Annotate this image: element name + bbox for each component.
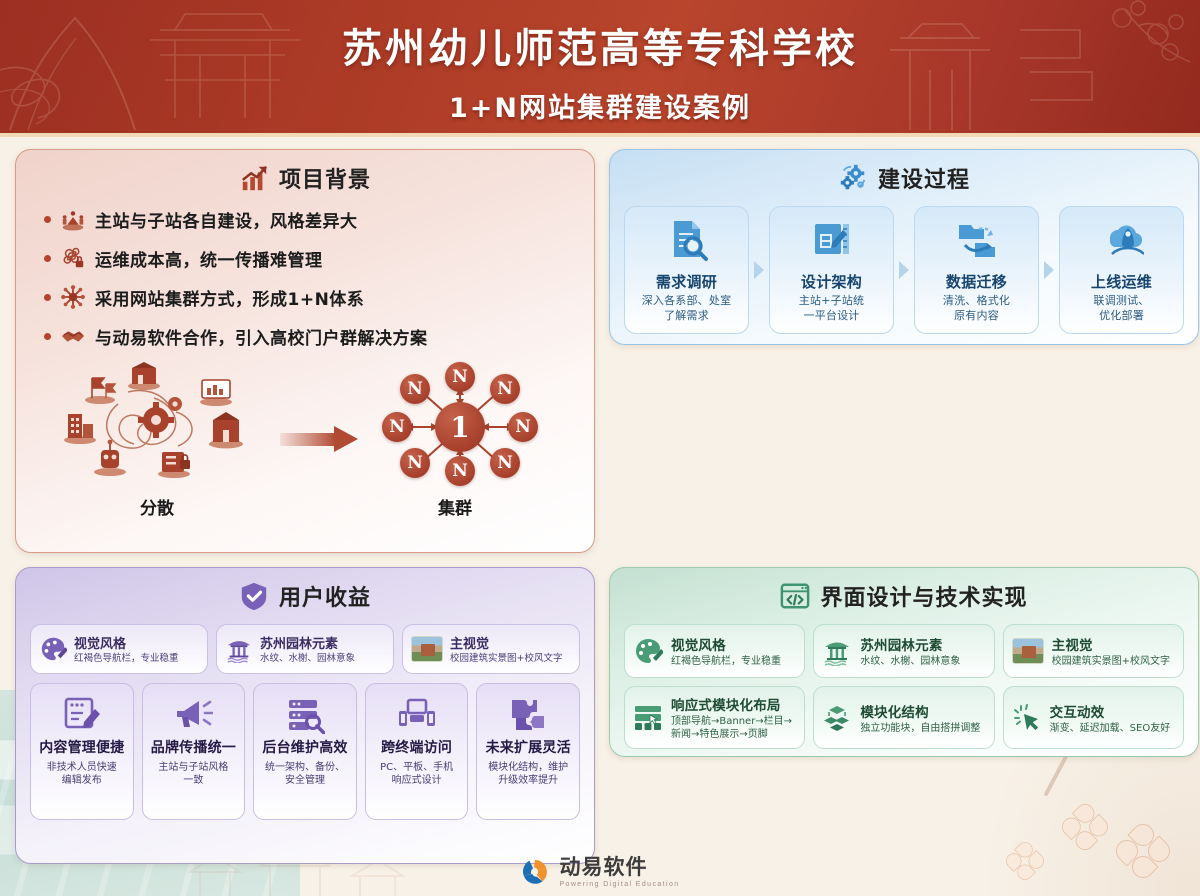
- design-card-desc: 水纹、水榭、园林意象: [860, 655, 960, 668]
- cluster-satellite-node: N: [400, 448, 430, 478]
- panel-title-text: 界面设计与技术实现: [820, 580, 1027, 612]
- diagram-label-scattered: 分散: [140, 494, 174, 519]
- process-step[interactable]: 数据迁移 清洗、格式化 原有内容: [914, 206, 1039, 334]
- benefit-card-name: 视觉风格: [74, 633, 179, 652]
- campus-photo-thumbnail: [411, 636, 443, 662]
- benefit-vcard-name: 跨终端访问: [381, 740, 452, 757]
- tangled-network-lock-icon: [60, 245, 86, 271]
- benefit-card-name: 苏州园林元素: [260, 633, 355, 652]
- process-step-desc: 主站+子站统 一平台设计: [775, 294, 888, 324]
- page-title: 苏州幼儿师范高等专科学校: [0, 16, 1200, 74]
- scattered-vs-cluster-diagram: 分散: [30, 362, 580, 530]
- benefit-vcard[interactable]: 品牌传播统一 主站与子站风格 一致: [142, 683, 246, 820]
- design-card-name: 响应式模块化布局: [671, 694, 796, 714]
- benefit-vcard-desc: 统一架构、备份、 安全管理: [265, 761, 345, 788]
- campus-photo-thumbnail: [1012, 638, 1044, 664]
- bullet-dot-icon: [44, 216, 51, 223]
- panel-title-project-background: 项目背景: [30, 162, 580, 194]
- growth-chart-icon: [239, 163, 269, 193]
- design-card-name: 交互动效: [1050, 701, 1171, 721]
- design-card-name: 苏州园林元素: [860, 634, 960, 654]
- cloud-rocket-icon: [1100, 217, 1144, 261]
- cluster-satellite-node: N: [490, 448, 520, 478]
- list-item-label: 采用网站集群方式，形成1+N体系: [95, 285, 364, 310]
- shield-check-icon: [239, 581, 269, 611]
- benefit-vcard-desc: PC、平板、手机 响应式设计: [380, 761, 453, 788]
- design-card-desc: 顶部导航→Banner→栏目→新闻→特色展示→页脚: [671, 715, 796, 741]
- page-footer: 动易软件 Powering Digital Education: [0, 848, 1200, 896]
- blueprint-pencil-icon: [810, 217, 854, 261]
- panel-title-interface-design: 界面设计与技术实现: [624, 580, 1184, 612]
- benefits-card-grid: 内容管理便捷 非技术人员快速 编辑发布 品牌传播统一 主站与子站风格 一致: [30, 683, 580, 820]
- megaphone-icon: [173, 694, 213, 734]
- multi-device-icon: [397, 694, 437, 734]
- panel-title-user-benefits: 用户收益: [30, 580, 580, 612]
- puzzle-icon: [508, 694, 548, 734]
- bullet-dot-icon: [44, 255, 51, 262]
- list-item-label: 运维成本高，统一传播难管理: [95, 246, 323, 271]
- page-subtitle: 1+N网站集群建设案例: [0, 86, 1200, 125]
- benefit-vcard[interactable]: 跨终端访问 PC、平板、手机 响应式设计: [365, 683, 469, 820]
- stacked-modules-icon: [822, 703, 852, 733]
- brand-logo-icon: [520, 857, 550, 887]
- handshake-icon: [60, 323, 86, 349]
- list-item: 与动易软件合作，引入高校门户群解决方案: [44, 323, 580, 349]
- palette-icon: [633, 636, 663, 666]
- design-card[interactable]: 视觉风格 红褐色导航栏，专业稳重: [624, 624, 805, 678]
- cluster-center-node: 1: [435, 402, 485, 452]
- satellite-item-campus: [209, 412, 243, 448]
- pavilion-icon: [225, 635, 253, 663]
- design-card-grid: 视觉风格 红褐色导航栏，专业稳重 苏州园林元素 水纹、水榭、园林意象: [624, 624, 1184, 749]
- benefit-vcard-name: 内容管理便捷: [39, 740, 124, 757]
- benefit-card-desc: 红褐色导航栏，专业稳重: [74, 653, 179, 665]
- benefit-card[interactable]: 主视觉 校园建筑实景图+校风文字: [402, 624, 580, 674]
- transition-arrow-icon: [280, 426, 360, 452]
- scattered-sites-icon: [60, 206, 86, 232]
- code-window-icon: [780, 581, 810, 611]
- design-card-desc: 校园建筑实景图+校风文字: [1052, 655, 1170, 668]
- benefit-vcard[interactable]: 内容管理便捷 非技术人员快速 编辑发布: [30, 683, 134, 820]
- process-step-desc: 清洗、格式化 原有内容: [920, 294, 1033, 324]
- edit-document-icon: [62, 694, 102, 734]
- benefit-card-name: 主视觉: [450, 633, 562, 652]
- panel-title-text: 用户收益: [279, 580, 371, 612]
- brand-name: 动易软件: [559, 857, 647, 878]
- click-cursor-icon: [1012, 703, 1042, 733]
- cluster-satellite-node: N: [400, 374, 430, 404]
- design-card-desc: 渐变、延迟加载、SEO友好: [1050, 722, 1171, 735]
- design-card-desc: 红褐色导航栏，专业稳重: [671, 655, 781, 668]
- cluster-satellite-node: N: [490, 374, 520, 404]
- process-step-desc: 深入各系部、处室 了解需求: [630, 294, 743, 324]
- process-step-desc: 联调测试、 优化部署: [1065, 294, 1178, 324]
- benefit-vcard[interactable]: 后台维护高效 统一架构、备份、 安全管理: [253, 683, 357, 820]
- panel-title-construction-process: 建设过程: [624, 162, 1184, 194]
- chevron-right-icon: [894, 206, 914, 334]
- process-step[interactable]: 上线运维 联调测试、 优化部署: [1059, 206, 1184, 334]
- gears-icon: [838, 163, 868, 193]
- panel-title-text: 项目背景: [279, 162, 371, 194]
- benefit-vcard-name: 未来扩展灵活: [486, 740, 571, 757]
- process-step[interactable]: 设计架构 主站+子站统 一平台设计: [769, 206, 894, 334]
- process-step-list: 需求调研 深入各系部、处室 了解需求 设计架构 主站+子站统: [624, 206, 1184, 334]
- satellite-item-buildings: [64, 414, 96, 444]
- panel-interface-design: 界面设计与技术实现 视觉风格 红褐色导航栏，专业稳重: [609, 567, 1199, 757]
- design-card[interactable]: 主视觉 校园建筑实景图+校风文字: [1003, 624, 1184, 678]
- panel-user-benefits: 用户收益 视觉风格 红褐色导航栏，专业稳重: [15, 567, 595, 864]
- scattered-sites-illustration: [58, 362, 268, 492]
- chevron-right-icon: [749, 206, 769, 334]
- benefit-card-desc: 校园建筑实景图+校风文字: [450, 653, 562, 665]
- list-item: 主站与子站各自建设，风格差异大: [44, 206, 580, 232]
- document-search-icon: [665, 217, 709, 261]
- process-step[interactable]: 需求调研 深入各系部、处室 了解需求: [624, 206, 749, 334]
- satellite-item-school: [128, 362, 160, 390]
- satellite-item-server-lock: [158, 452, 190, 478]
- benefit-card-desc: 水纹、水榭、园林意象: [260, 653, 355, 665]
- benefit-vcard-name: 品牌传播统一: [151, 740, 236, 757]
- list-item-label: 主站与子站各自建设，风格差异大: [95, 207, 358, 232]
- folder-transfer-icon: [955, 217, 999, 261]
- hub-network-icon: [60, 284, 86, 310]
- bullet-dot-icon: [44, 333, 51, 340]
- benefit-vcard-desc: 模块化结构，维护 升级效率提升: [488, 761, 568, 788]
- process-step-name: 设计架构: [775, 271, 888, 292]
- palette-icon: [39, 635, 67, 663]
- process-step-name: 数据迁移: [920, 271, 1033, 292]
- benefits-top-card-row: 视觉风格 红褐色导航栏，专业稳重 苏州园林元素 水纹、水榭、园林意象: [30, 624, 580, 674]
- design-card-name: 视觉风格: [671, 634, 781, 654]
- benefit-card[interactable]: 视觉风格 红褐色导航栏，专业稳重: [30, 624, 208, 674]
- bullet-dot-icon: [44, 294, 51, 301]
- design-card-name: 主视觉: [1052, 634, 1170, 654]
- diagram-label-cluster: 集群: [438, 494, 472, 519]
- background-bullet-list: 主站与子站各自建设，风格差异大 运维成本高，统一传播难管理: [44, 206, 580, 349]
- design-card-desc: 独立功能块，自由搭拼调整: [860, 722, 980, 735]
- design-card[interactable]: 交互动效 渐变、延迟加载、SEO友好: [1003, 686, 1184, 749]
- design-card[interactable]: 苏州园林元素 水纹、水榭、园林意象: [813, 624, 994, 678]
- cluster-satellite-node: N: [382, 412, 412, 442]
- benefit-vcard[interactable]: 未来扩展灵活 模块化结构，维护 升级效率提升: [476, 683, 580, 820]
- list-item: 采用网站集群方式，形成1+N体系: [44, 284, 580, 310]
- benefit-vcard-desc: 非技术人员快速 编辑发布: [47, 761, 117, 788]
- design-card-name: 模块化结构: [860, 701, 980, 721]
- list-item: 运维成本高，统一传播难管理: [44, 245, 580, 271]
- design-card[interactable]: 响应式模块化布局 顶部导航→Banner→栏目→新闻→特色展示→页脚: [624, 686, 805, 749]
- cluster-satellite-node: N: [445, 362, 475, 392]
- process-step-name: 需求调研: [630, 271, 743, 292]
- panel-project-background: 项目背景 主站与子站各自建设，风格差异大: [15, 149, 595, 553]
- server-wrench-icon: [285, 694, 325, 734]
- chevron-right-icon: [1039, 206, 1059, 334]
- benefit-vcard-name: 后台维护高效: [262, 740, 347, 757]
- satellite-item-laptop: [200, 380, 232, 406]
- benefit-card[interactable]: 苏州园林元素 水纹、水榭、园林意象: [216, 624, 394, 674]
- satellite-item-robot: [94, 440, 126, 476]
- process-step-name: 上线运维: [1065, 271, 1178, 292]
- cluster-satellite-node: N: [508, 412, 538, 442]
- cluster-satellite-node: N: [445, 456, 475, 486]
- page-header: 苏州幼儿师范高等专科学校 1+N网站集群建设案例: [0, 0, 1200, 137]
- pavilion-icon: [822, 636, 852, 666]
- panel-construction-process: 建设过程 需求调研 深入各系部、处室 了解需求: [609, 149, 1199, 345]
- layout-blocks-icon: [633, 703, 663, 733]
- satellite-item-flags: [85, 378, 115, 404]
- list-item-label: 与动易软件合作，引入高校门户群解决方案: [95, 324, 428, 349]
- content-board: 项目背景 主站与子站各自建设，风格差异大: [0, 137, 1200, 864]
- design-card[interactable]: 模块化结构 独立功能块，自由搭拼调整: [813, 686, 994, 749]
- cluster-illustration: 1 N N N N N N N N: [360, 364, 560, 490]
- benefit-vcard-desc: 主站与子站风格 一致: [158, 761, 228, 788]
- brand-tagline: Powering Digital Education: [559, 881, 679, 888]
- panel-title-text: 建设过程: [878, 162, 970, 194]
